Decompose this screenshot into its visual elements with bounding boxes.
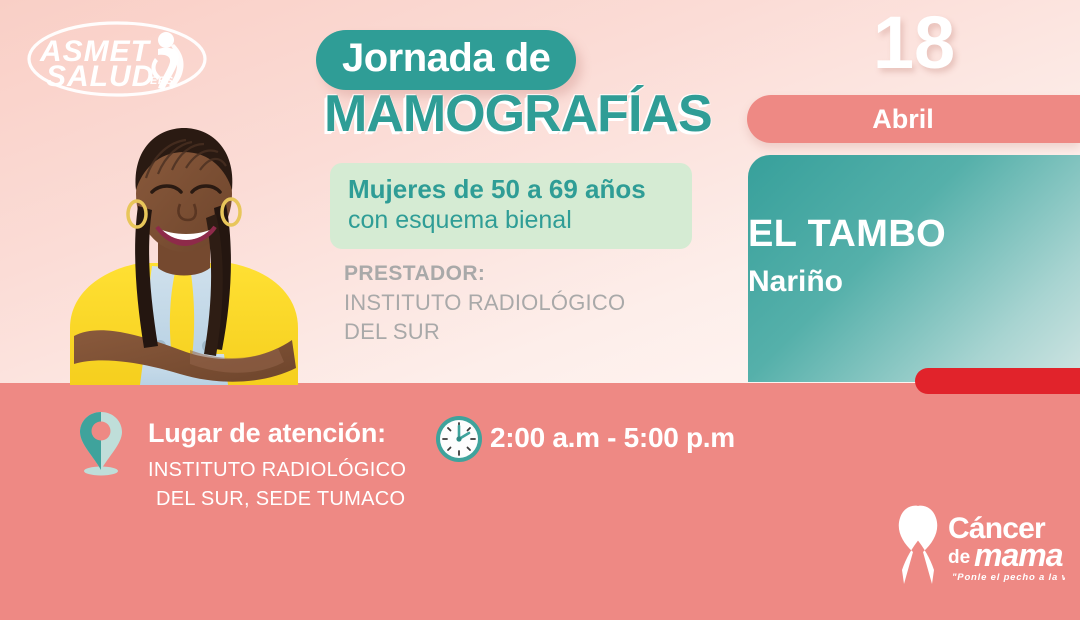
svg-text:de: de (948, 547, 970, 568)
svg-text:"Ponle el pecho a la vida": "Ponle el pecho a la vida" (952, 572, 1065, 583)
eligibility-line-2: con esquema bienal (348, 205, 674, 235)
location-town: EL TAMBO (748, 213, 1048, 256)
page-title: MAMOGRAFÍAS (324, 88, 712, 140)
provider-line-1: INSTITUTO RADIOLÓGICO (344, 288, 704, 317)
location-department: Nariño (748, 265, 1048, 299)
campaign-poster: ASMET SALUD EPS (0, 0, 1080, 620)
eligibility-box: Mujeres de 50 a 69 años con esquema bien… (330, 163, 692, 249)
provider-label: PRESTADOR: (344, 260, 704, 288)
venue-line-2: DEL SUR, SEDE TUMACO (156, 485, 478, 514)
venue-title: Lugar de atención: (148, 418, 386, 449)
red-accent-bar (915, 368, 1080, 394)
title-pill: Jornada de (316, 30, 576, 90)
title-pill-text: Jornada de (342, 36, 550, 80)
svg-text:SALUD: SALUD (46, 60, 154, 93)
event-day: 18 (748, 6, 1080, 80)
svg-text:mama: mama (974, 537, 1063, 573)
provider-line-2: DEL SUR (344, 317, 704, 346)
schedule-time: 2:00 a.m - 5:00 p.m (490, 422, 735, 454)
event-month-bar: Abril (747, 95, 1080, 143)
map-pin-icon (78, 410, 124, 476)
eligibility-line-1: Mujeres de 50 a 69 años (348, 175, 674, 205)
cancer-de-mama-logo: Cáncer de mama "Ponle el pecho a la vida… (880, 500, 1065, 585)
provider-block: PRESTADOR: INSTITUTO RADIOLÓGICO DEL SUR (344, 260, 704, 346)
event-month: Abril (747, 95, 1059, 143)
clock-icon (434, 414, 484, 464)
woman-photo (40, 118, 330, 385)
venue-address: INSTITUTO RADIOLÓGICO DEL SUR, SEDE TUMA… (148, 456, 478, 514)
asmet-salud-logo: ASMET SALUD EPS (22, 18, 212, 100)
venue-line-1: INSTITUTO RADIOLÓGICO (148, 456, 478, 485)
